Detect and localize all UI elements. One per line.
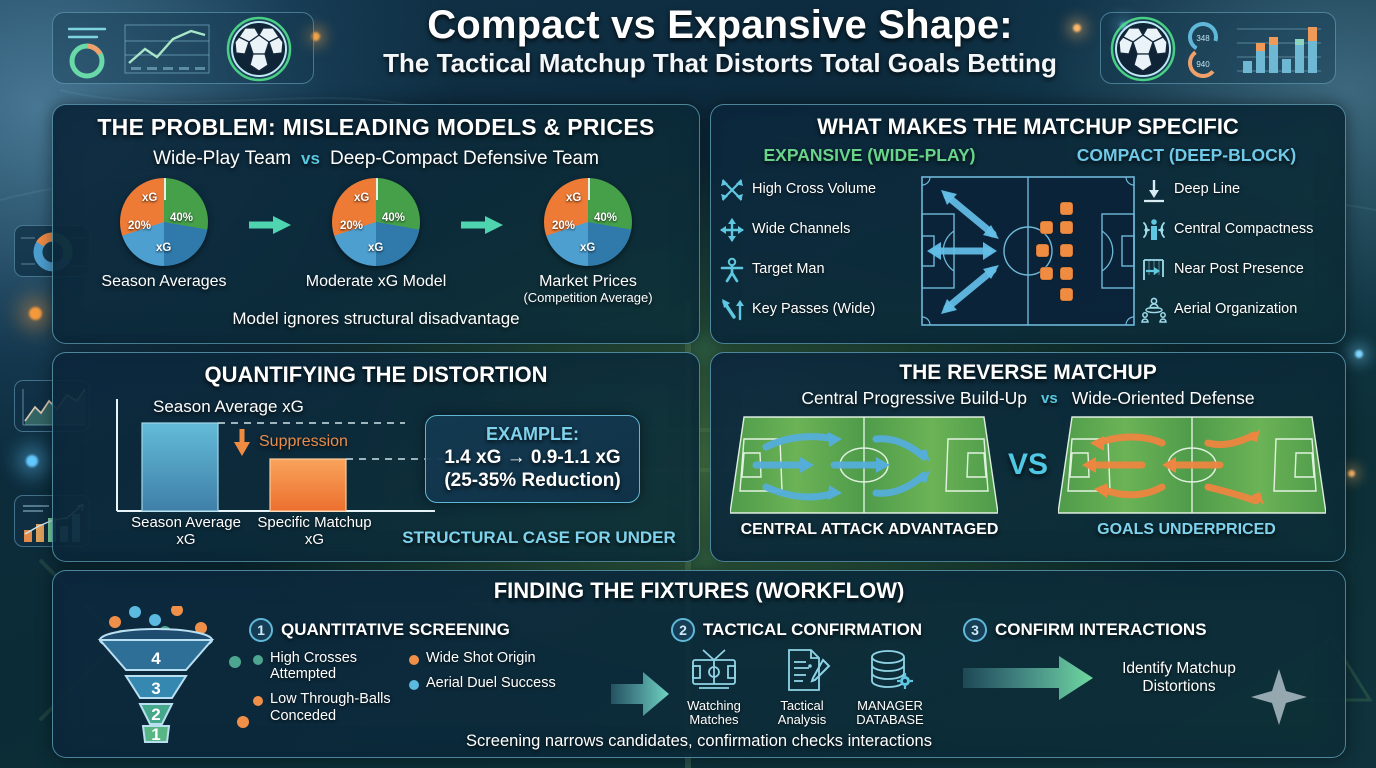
feature-label: Target Man — [752, 262, 825, 278]
pie-slice-label-orange: xG — [566, 192, 581, 204]
reverse-heading-left: Central Progressive Build-Up — [801, 388, 1027, 409]
pie-slice-label-lightblue: 20% — [340, 220, 363, 232]
bullet-column-left: High Crosses Attempted Low Through-Balls… — [253, 650, 401, 733]
feature-label: Aerial Organization — [1174, 302, 1297, 318]
bullet-item: Wide Shot Origin — [409, 650, 557, 666]
pie-caption: Moderate xG Model — [301, 273, 451, 291]
step-3-header: 3 CONFIRM INTERACTIONS — [963, 618, 1303, 642]
icon-item-watching-matches: Watching Matches — [677, 648, 751, 728]
wide-channels-arrows-icon — [719, 217, 745, 243]
bar-label-specific-matchup: Specific Matchup xG — [257, 515, 372, 549]
analytics-soccer-badge-icon — [53, 13, 315, 85]
reverse-footer-left: CENTRAL ATTACK ADVANTAGED — [711, 521, 1028, 539]
pie-chart-sequence: xG 40% 20% xG Season Averages xG 40% 20% — [53, 178, 699, 305]
pie-caption-main: Market Prices — [539, 273, 637, 290]
panel-problem-teams: Wide-Play Team vs Deep-Compact Defensive… — [53, 148, 699, 170]
pie-slice-label-green: 40% — [382, 212, 405, 224]
pie-slice-label-blue: xG — [580, 242, 595, 254]
aerial-organization-icon — [1141, 297, 1167, 323]
pie-caption: Market Prices (Competition Average) — [513, 273, 663, 305]
near-post-icon — [1141, 257, 1167, 283]
pie-slice-label-green: 40% — [594, 212, 617, 224]
workflow-step-2: 2 TACTICAL CONFIRMATION — [671, 606, 963, 751]
bullet-item: Low Through-Balls Conceded — [253, 691, 401, 723]
panel-matchup-body: High Cross Volume — [711, 170, 1345, 330]
feature-key-passes-wide: Key Passes (Wide) — [719, 290, 915, 330]
bokeh-dot — [29, 307, 42, 320]
bar-label-text: Specific Matchup xG — [257, 514, 371, 548]
icon-label: Tactical Analysis — [765, 699, 839, 728]
workflow-note: Screening narrows candidates, confirmati… — [53, 732, 1345, 751]
svg-text:348: 348 — [1196, 34, 1210, 43]
team-right-label: Deep-Compact Defensive Team — [330, 148, 599, 170]
step-2-icons: Watching Matches — [671, 648, 963, 728]
manager-database-icon — [861, 648, 919, 692]
vs-label: vs — [301, 149, 320, 169]
target-man-icon — [719, 257, 745, 283]
tactical-document-icon — [773, 648, 831, 692]
pie-slice-label-green: 40% — [170, 212, 193, 224]
step-3-outcome-text: Identify Matchup Distortions — [1099, 660, 1259, 696]
panel-workflow: FINDING THE FIXTURES (WORKFLOW) — [52, 570, 1346, 758]
icon-item-tactical-analysis: Tactical Analysis — [765, 648, 839, 728]
bar-label-season-average: Season Average xG — [131, 515, 241, 549]
flow-arrow-2 — [451, 178, 513, 236]
panel-matchup-title: WHAT MAKES THE MATCHUP SPECIFIC — [711, 114, 1345, 140]
workflow-arrow-1 — [609, 606, 671, 751]
step-title: CONFIRM INTERACTIONS — [995, 620, 1207, 640]
bokeh-dot — [1348, 470, 1355, 477]
panel-matchup-headings: EXPANSIVE (WIDE-PLAY) COMPACT (DEEP-BLOC… — [711, 145, 1345, 166]
bullet-text: Wide Shot Origin — [426, 650, 536, 666]
icon-item-manager-database: MANAGER DATABASE — [853, 648, 927, 728]
tactical-field-diagram — [921, 176, 1135, 326]
feature-label: Key Passes (Wide) — [752, 302, 875, 318]
pie-chart-moderate-xg-model: xG 40% 20% xG Moderate xG Model — [301, 178, 451, 291]
infographic-stage: Compact vs Expansive Shape: The Tactical… — [0, 0, 1376, 768]
panel-matchup-specific: WHAT MAKES THE MATCHUP SPECIFIC EXPANSIV… — [710, 104, 1346, 344]
step-number-badge: 1 — [249, 618, 273, 642]
pie-slice-label-lightblue: 20% — [552, 220, 575, 232]
team-left-label: Wide-Play Team — [153, 148, 291, 170]
pie-slice-label-orange: xG — [142, 192, 157, 204]
pie-slice-label-lightblue: 20% — [128, 220, 151, 232]
right-arrow-icon — [611, 670, 669, 718]
tactical-field-diagram-wrap — [915, 170, 1141, 330]
feature-label: Wide Channels — [752, 222, 850, 238]
tv-pitch-icon — [685, 648, 743, 692]
step-2-header: 2 TACTICAL CONFIRMATION — [671, 618, 963, 642]
expansive-feature-list: High Cross Volume — [719, 170, 915, 330]
bullet-dot — [409, 655, 419, 665]
step-1-header: 1 QUANTITATIVE SCREENING — [249, 618, 609, 642]
feature-high-cross-volume: High Cross Volume — [719, 170, 915, 210]
pie-chart-market-prices: xG 40% 20% xG Market Prices (Competition… — [513, 178, 663, 305]
pie-slice-label-blue: xG — [156, 242, 171, 254]
sparkle-decoration-icon — [1249, 667, 1309, 727]
pie-chart-season-averages: xG 40% 20% xG Season Averages — [89, 178, 239, 291]
feature-label: Central Compactness — [1174, 222, 1313, 238]
example-callout-box: EXAMPLE: 1.4 xG → 0.9-1.1 xG (25-35% Red… — [425, 415, 640, 503]
step-title: TACTICAL CONFIRMATION — [703, 620, 922, 640]
panel-problem-note: Model ignores structural disadvantage — [53, 309, 699, 329]
pie-caption-sub: (Competition Average) — [513, 291, 663, 305]
step-number-badge: 2 — [671, 618, 695, 642]
bullet-column-right: Wide Shot Origin Aerial Duel Success — [409, 650, 557, 733]
heading-expansive: EXPANSIVE (WIDE-PLAY) — [711, 145, 1028, 166]
example-line-2: (25-35% Reduction) — [432, 470, 633, 492]
feature-target-man: Target Man — [719, 250, 915, 290]
header-title-block: Compact vs Expansive Shape: The Tactical… — [330, 4, 1110, 79]
feature-central-compactness: Central Compactness — [1141, 210, 1337, 250]
bar-label-text: Season Average xG — [131, 514, 241, 548]
header-left-badge — [52, 12, 314, 84]
pie-slice-label-blue: xG — [368, 242, 383, 254]
header: Compact vs Expansive Shape: The Tactical… — [0, 0, 1376, 100]
bullet-dot — [253, 696, 263, 706]
feature-aerial-organization: Aerial Organization — [1141, 290, 1337, 330]
example-line-1: 1.4 xG → 0.9-1.1 xG — [432, 447, 633, 469]
soccer-analytics-badge-icon: 348 940 — [1101, 13, 1337, 85]
heading-compact: COMPACT (DEEP-BLOCK) — [1028, 145, 1345, 166]
step-number-badge: 3 — [963, 618, 987, 642]
panel-workflow-title: FINDING THE FIXTURES (WORKFLOW) — [53, 578, 1345, 604]
pitch-central-build-up — [730, 413, 998, 517]
structural-case-footer: STRUCTURAL CASE FOR UNDER — [389, 528, 689, 548]
bullet-text: High Crosses Attempted — [270, 650, 401, 682]
bokeh-dot — [1355, 350, 1363, 358]
flow-arrow-1 — [239, 178, 301, 236]
pie-graphic: xG 40% 20% xG — [120, 178, 208, 266]
reverse-vs-big: VS — [1008, 448, 1048, 482]
pitch-wide-oriented-defense — [1058, 413, 1326, 517]
svg-text:3: 3 — [151, 679, 160, 698]
feature-wide-channels: Wide Channels — [719, 210, 915, 250]
panel-quantifying-distortion: QUANTIFYING THE DISTORTION Season Averag… — [52, 352, 700, 562]
icon-label: MANAGER DATABASE — [853, 699, 927, 728]
feature-near-post-presence: Near Post Presence — [1141, 250, 1337, 290]
bullet-item: Aerial Duel Success — [409, 675, 557, 691]
screening-funnel: 4 3 2 1 — [59, 606, 249, 751]
bullet-item: High Crosses Attempted — [253, 650, 401, 682]
icon-label: Watching Matches — [677, 699, 751, 728]
bullet-text: Low Through-Balls Conceded — [270, 691, 401, 723]
step-1-bullets: High Crosses Attempted Low Through-Balls… — [249, 650, 609, 733]
workflow-step-1: 1 QUANTITATIVE SCREENING High Crosses At… — [249, 606, 609, 751]
reverse-heading-right: Wide-Oriented Defense — [1072, 388, 1255, 409]
step-title: QUANTITATIVE SCREENING — [281, 620, 510, 640]
bullet-dot — [253, 655, 263, 665]
svg-text:940: 940 — [1196, 60, 1210, 69]
panel-the-problem: THE PROBLEM: MISLEADING MODELS & PRICES … — [52, 104, 700, 344]
feature-label: High Cross Volume — [752, 182, 876, 198]
feature-label: Near Post Presence — [1174, 262, 1304, 278]
right-arrow-icon — [459, 214, 505, 236]
cross-arrows-icon — [719, 177, 745, 203]
suppression-label: Suppression — [259, 433, 348, 451]
key-pass-arrow-icon — [719, 297, 745, 323]
page-title: Compact vs Expansive Shape: — [330, 4, 1110, 46]
right-arrow-icon — [247, 214, 293, 236]
pie-graphic: xG 40% 20% xG — [544, 178, 632, 266]
chart-series-label: Season Average xG — [153, 397, 304, 417]
compact-feature-list: Deep Line — [1141, 170, 1337, 330]
deep-line-down-arrow-icon — [1141, 177, 1167, 203]
bokeh-dot — [26, 455, 38, 467]
central-compactness-icon — [1141, 217, 1167, 243]
panel-problem-title: THE PROBLEM: MISLEADING MODELS & PRICES — [53, 114, 699, 141]
feature-label: Deep Line — [1174, 182, 1240, 198]
svg-text:4: 4 — [151, 649, 161, 668]
page-subtitle: The Tactical Matchup That Distorts Total… — [330, 48, 1110, 79]
header-right-badge: 348 940 — [1100, 12, 1336, 84]
example-heading: EXAMPLE: — [432, 424, 633, 445]
svg-text:2: 2 — [151, 705, 160, 724]
pie-graphic: xG 40% 20% xG — [332, 178, 420, 266]
panel-reverse-footers: CENTRAL ATTACK ADVANTAGED GOALS UNDERPRI… — [711, 521, 1345, 539]
reverse-footer-right: GOALS UNDERPRICED — [1028, 521, 1345, 539]
pie-caption: Season Averages — [89, 273, 239, 291]
pie-slice-label-orange: xG — [354, 192, 369, 204]
workflow-body: 4 3 2 1 1 QUANTITATIVE SCREENING — [53, 606, 1345, 751]
panel-reverse-title: THE REVERSE MATCHUP — [711, 361, 1345, 385]
panel-reverse-headings: Central Progressive Build-Up vs Wide-Ori… — [711, 388, 1345, 409]
bullet-dot — [409, 680, 419, 690]
reverse-vs-small: vs — [1041, 390, 1058, 407]
panel-distortion-title: QUANTIFYING THE DISTORTION — [53, 362, 699, 388]
panel-reverse-matchup: THE REVERSE MATCHUP Central Progressive … — [710, 352, 1346, 562]
bullet-text: Aerial Duel Success — [426, 675, 556, 691]
funnel-graphic: 4 3 2 1 — [59, 606, 249, 746]
right-arrow-icon — [963, 654, 1093, 702]
feature-deep-line: Deep Line — [1141, 170, 1337, 210]
panel-reverse-body: VS — [711, 413, 1345, 517]
